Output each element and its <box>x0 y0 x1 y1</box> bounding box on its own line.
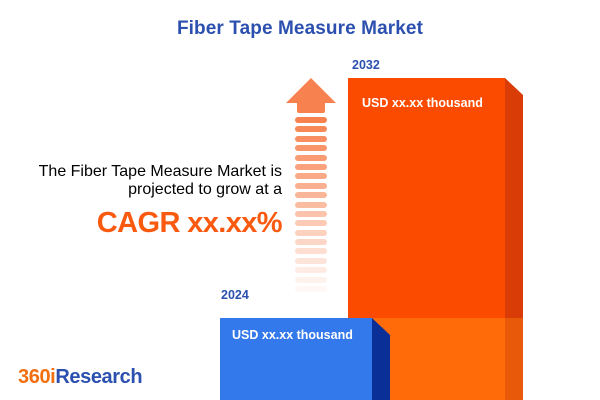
statement-line-1: The Fiber Tape Measure Market is <box>20 163 282 181</box>
arrow-stripe <box>295 164 327 170</box>
logo-text-research: Research <box>55 366 142 388</box>
arrow-stripe <box>295 136 327 142</box>
arrow-stripes <box>295 117 327 306</box>
bar-year-label-2024: 2024 <box>221 288 249 302</box>
arrow-stripe <box>295 267 327 273</box>
arrow-stripe <box>295 295 327 301</box>
bar-2032-side-face-lower <box>505 318 523 400</box>
logo-text-360: 360 <box>18 366 50 388</box>
arrow-triangle <box>286 78 336 103</box>
arrow-stripe <box>295 145 327 151</box>
brand-logo: 360iResearch <box>18 366 142 389</box>
bar-year-label-2032: 2032 <box>352 58 380 72</box>
arrow-stripe <box>295 183 327 189</box>
arrow-stripe <box>295 277 327 283</box>
arrow-stripe <box>295 173 327 179</box>
infographic-canvas: Fiber Tape Measure Market The Fiber Tape… <box>0 0 600 400</box>
arrow-stem <box>297 102 325 113</box>
upward-growth-arrow <box>286 78 336 306</box>
cagr-value: CAGR xx.xx% <box>20 208 282 238</box>
bar-value-label-2032: USD xx.xx thousand <box>362 96 483 110</box>
arrow-stripe <box>295 230 327 236</box>
arrow-stripe <box>295 126 327 132</box>
page-title: Fiber Tape Measure Market <box>0 18 600 40</box>
statement-block: The Fiber Tape Measure Market is project… <box>20 163 282 238</box>
arrow-stripe <box>295 192 327 198</box>
arrow-stripe <box>295 202 327 208</box>
bar-value-label-2024: USD xx.xx thousand <box>232 328 353 342</box>
arrow-stripe <box>295 286 327 292</box>
arrow-stripe <box>295 258 327 264</box>
arrow-stripe <box>295 220 327 226</box>
arrow-stripe <box>295 239 327 245</box>
arrow-stripe <box>295 117 327 123</box>
arrow-stripe <box>295 155 327 161</box>
statement-line-2: projected to grow at a <box>20 181 282 199</box>
arrow-head-icon <box>286 78 336 112</box>
bar-2024-side-face <box>372 318 390 400</box>
arrow-stripe <box>295 248 327 254</box>
arrow-stripe <box>295 211 327 217</box>
